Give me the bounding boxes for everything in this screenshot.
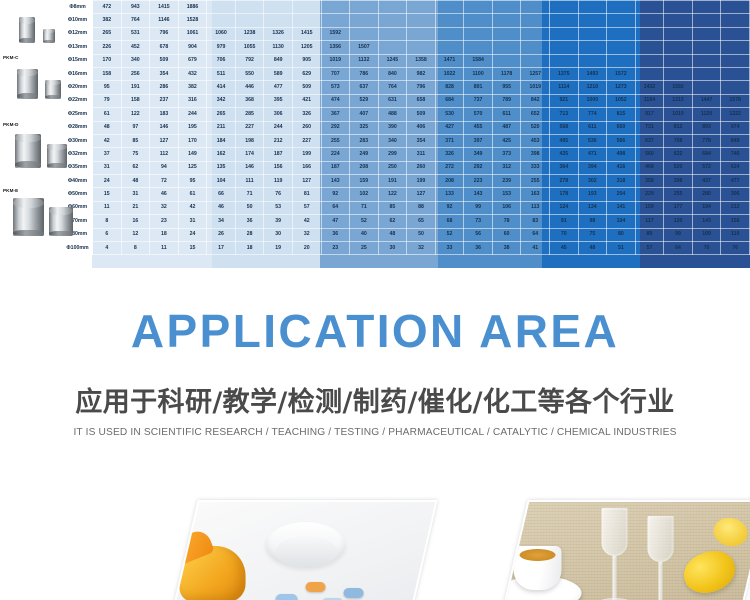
empty-cell (635, 1, 664, 14)
pressure-value-cell: 893 (692, 121, 721, 134)
empty-cell (492, 27, 521, 40)
pressure-value-cell: 340 (378, 134, 407, 147)
pill (276, 594, 298, 600)
pressure-value-cell: 11 (150, 242, 179, 255)
pressure-value-cell: 76 (264, 188, 293, 201)
pressure-value-cell: 134 (578, 201, 607, 214)
empty-cell (435, 27, 464, 40)
product-model-code: PKM-E (3, 189, 18, 194)
empty-cell (721, 67, 750, 80)
pressure-value-cell: 1578 (721, 94, 750, 107)
empty-cell (607, 41, 636, 54)
pressure-value-cell: 211 (207, 121, 236, 134)
pressure-value-cell: 239 (492, 175, 521, 188)
pressure-value-cell: 20 (292, 242, 321, 255)
table-row: Φ35mm31629412513514615616618720825026027… (1, 161, 750, 174)
pressure-value-cell: 397 (464, 134, 493, 147)
diameter-label: Φ12mm (63, 27, 93, 40)
pressure-value-cell: 979 (207, 41, 236, 54)
pressure-value-cell: 1052 (607, 94, 636, 107)
pressure-value-cell: 708 (664, 134, 693, 147)
empty-cell (378, 27, 407, 40)
pressure-value-cell: 796 (150, 27, 179, 40)
pressure-value-cell: 472 (93, 1, 122, 14)
empty-cell (692, 81, 721, 94)
pressure-value-cell: 97 (121, 121, 150, 134)
pressure-value-cell: 488 (378, 108, 407, 121)
pressure-value-cell: 713 (550, 108, 579, 121)
pressure-value-cell: 943 (121, 1, 150, 14)
pressure-value-cell: 789 (492, 94, 521, 107)
die-mold-photo (5, 194, 60, 252)
pressure-value-cell: 50 (235, 201, 264, 214)
pressure-value-cell: 421 (292, 94, 321, 107)
pressure-value-cell: 187 (321, 161, 350, 174)
table-row: PKM-DΦ28mm489714619521122724426029232539… (1, 121, 750, 134)
pressure-value-cell: 237 (150, 94, 179, 107)
pharmaceutical-tile[interactable] (166, 500, 437, 600)
pressure-value-cell: 1375 (550, 67, 579, 80)
pressure-value-cell: 796 (407, 81, 436, 94)
pressure-value-cell: 255 (521, 175, 550, 188)
table-row: Φ32mm37751121491621741871992242492993113… (1, 148, 750, 161)
pressure-value-cell: 1257 (521, 67, 550, 80)
pressure-value-cell: 195 (178, 121, 207, 134)
pressure-value-cell: 684 (435, 94, 464, 107)
empty-cell (664, 67, 693, 80)
pressure-value-cell: 326 (435, 148, 464, 161)
pressure-value-cell: 11 (93, 201, 122, 214)
pressure-value-cell: 974 (721, 121, 750, 134)
pressure-value-cell: 650 (607, 121, 636, 134)
pressure-value-cell: 117 (635, 215, 664, 228)
pressure-value-cell: 280 (692, 188, 721, 201)
pressure-value-cell: 354 (407, 134, 436, 147)
pressure-value-cell: 536 (578, 134, 607, 147)
pressure-value-cell: 98 (578, 215, 607, 228)
pressure-value-cell: 38 (492, 242, 521, 255)
empty-cell (635, 67, 664, 80)
pressure-value-cell: 64 (521, 228, 550, 241)
pressure-value-cell: 255 (321, 134, 350, 147)
pressure-value-cell: 550 (235, 67, 264, 80)
pressure-value-cell: 570 (464, 108, 493, 121)
pressure-value-cell: 184 (207, 134, 236, 147)
pressure-value-cell: 156 (721, 215, 750, 228)
empty-cell (321, 1, 350, 14)
pressure-value-cell: 679 (178, 54, 207, 67)
product-photo-cell: PKM-D (1, 121, 63, 188)
pressure-value-cell: 455 (464, 121, 493, 134)
pressure-value-cell: 495 (550, 134, 579, 147)
pressure-value-cell: 51 (607, 242, 636, 255)
pressure-value-cell: 292 (321, 121, 350, 134)
pressure-value-cell: 199 (407, 175, 436, 188)
pressure-value-cell: 229 (635, 188, 664, 201)
empty-cell (407, 14, 436, 27)
empty-cell (407, 1, 436, 14)
pressure-value-cell: 1886 (178, 1, 207, 14)
pressure-value-cell: 452 (121, 41, 150, 54)
pressure-value-cell: 453 (521, 134, 550, 147)
pressure-value-cell: 42 (178, 201, 207, 214)
pressure-value-cell: 1592 (664, 81, 693, 94)
pressure-value-cell: 368 (235, 94, 264, 107)
pressure-value-cell: 65 (407, 215, 436, 228)
pressure-value-cell: 37 (93, 148, 122, 161)
pressure-value-cell: 707 (321, 67, 350, 80)
pressure-value-cell: 1022 (435, 67, 464, 80)
empty-cell (521, 41, 550, 54)
die-mold-photo (5, 61, 60, 119)
pressure-value-cell: 174 (235, 148, 264, 161)
pressure-value-cell: 1019 (664, 108, 693, 121)
pressure-value-cell: 921 (550, 94, 579, 107)
pressure-value-cell: 52 (350, 215, 379, 228)
pressure-value-cell: 85 (121, 134, 150, 147)
pressure-value-cell: 39 (264, 215, 293, 228)
pressure-value-cell: 955 (492, 81, 521, 94)
pressure-value-cell: 1238 (235, 27, 264, 40)
empty-cell (721, 54, 750, 67)
die-mold-photo (5, 7, 60, 52)
table-row: PKM-EΦ50mm153146616671768192102122127133… (1, 188, 750, 201)
pressure-value-cell: 16 (121, 215, 150, 228)
pressure-value-cell: 1326 (264, 27, 293, 40)
pressure-value-cell: 112 (150, 148, 179, 161)
pressure-value-cell: 414 (207, 81, 236, 94)
application-gallery (0, 500, 750, 600)
empty-cell (664, 14, 693, 27)
table-row: Φ13mm22645267890497910551130120513561507 (1, 41, 750, 54)
empty-cell (664, 54, 693, 67)
pressure-value-cell: 33 (435, 242, 464, 255)
pressure-value-cell: 163 (521, 188, 550, 201)
tea-liquid (520, 549, 556, 561)
pressure-value-cell: 624 (721, 161, 750, 174)
food-beverage-tile[interactable] (496, 500, 750, 600)
empty-cell (721, 27, 750, 40)
empty-cell (635, 27, 664, 40)
pressure-value-cell: 1061 (178, 27, 207, 40)
pressure-value-cell: 333 (521, 161, 550, 174)
product-photo-cell (1, 1, 63, 55)
empty-cell (578, 41, 607, 54)
pressure-value-cell: 146 (150, 121, 179, 134)
empty-cell (264, 1, 293, 14)
pressure-value-cell: 8 (93, 215, 122, 228)
pressure-value-cell: 70 (550, 228, 579, 241)
pressure-value-cell: 31 (121, 188, 150, 201)
pressure-value-cell: 95 (93, 81, 122, 94)
pressure-value-cell: 520 (664, 161, 693, 174)
pressure-value-cell: 446 (235, 81, 264, 94)
pressure-value-cell: 127 (407, 188, 436, 201)
pressure-value-cell: 982 (407, 67, 436, 80)
pressure-value-cell: 265 (93, 27, 122, 40)
pressure-value-cell: 153 (492, 188, 521, 201)
table-row: Φ70mm81623313436394247526265687378839198… (1, 215, 750, 228)
empty-cell (378, 14, 407, 27)
pressure-value-cell: 183 (150, 108, 179, 121)
empty-cell (550, 41, 579, 54)
pressure-value-cell: 94 (150, 161, 179, 174)
pressure-value-cell: 23 (150, 215, 179, 228)
subtitle-english: IT IS USED IN SCIENTIFIC RESEARCH / TEAC… (0, 427, 750, 438)
product-photo-cell: PKM-C (1, 54, 63, 121)
pressure-value-cell: 1493 (578, 67, 607, 80)
empty-cell (235, 14, 264, 27)
empty-cell (350, 27, 379, 40)
table-row: Φ12mm265531796106110601238132614151592 (1, 27, 750, 40)
pressure-value-cell: 68 (435, 215, 464, 228)
diameter-label: Φ50mm (63, 188, 93, 201)
pressure-value-cell: 1100 (464, 67, 493, 80)
empty-cell (578, 1, 607, 14)
pressure-value-cell: 95 (178, 175, 207, 188)
pressure-value-cell: 191 (121, 81, 150, 94)
pressure-value-cell: 25 (350, 242, 379, 255)
pressure-value-cell: 326 (292, 108, 321, 121)
pressure-value-cell: 24 (178, 228, 207, 241)
pressure-value-cell: 187 (264, 148, 293, 161)
empty-cell (721, 41, 750, 54)
pressure-value-cell: 50 (407, 228, 436, 241)
pressure-value-cell: 1356 (321, 41, 350, 54)
pressure-value-cell: 78 (492, 215, 521, 228)
empty-cell (492, 1, 521, 14)
pressure-value-cell: 159 (635, 201, 664, 214)
pressure-value-cell: 75 (578, 228, 607, 241)
pressure-value-cell: 1471 (435, 54, 464, 67)
pressure-value-cell: 223 (464, 175, 493, 188)
pressure-value-cell: 88 (407, 201, 436, 214)
pressure-value-cell: 204 (607, 188, 636, 201)
pharmaceutical-photo (166, 502, 437, 600)
pressure-value-cell: 191 (378, 175, 407, 188)
pressure-value-cell: 81 (292, 188, 321, 201)
pressure-value-cell: 79 (93, 94, 122, 107)
pressure-value-cell: 64 (664, 242, 693, 255)
pressure-value-cell: 1447 (692, 94, 721, 107)
pressure-value-cell: 159 (350, 175, 379, 188)
pressure-value-cell: 658 (407, 94, 436, 107)
pressure-value-cell: 731 (635, 121, 664, 134)
empty-cell (521, 27, 550, 40)
pressure-value-cell: 437 (692, 175, 721, 188)
pressure-value-cell: 36 (464, 242, 493, 255)
empty-cell (550, 14, 579, 27)
table-row: Φ8mm47294314151886 (1, 1, 750, 14)
pressure-value-cell: 406 (407, 121, 436, 134)
pressure-value-cell: 255 (664, 188, 693, 201)
page-title: APPLICATION AREA (0, 304, 750, 358)
diameter-label: Φ80mm (63, 228, 93, 241)
pill (306, 582, 326, 592)
pressure-value-cell: 119 (721, 228, 750, 241)
pressure-value-cell: 477 (264, 81, 293, 94)
pressure-value-cell: 53 (264, 201, 293, 214)
pressure-value-cell: 371 (435, 134, 464, 147)
pressure-value-cell: 278 (550, 175, 579, 188)
pressure-value-cell: 92 (321, 188, 350, 201)
empty-cell (664, 27, 693, 40)
pressure-value-cell: 1210 (578, 81, 607, 94)
application-area-section: APPLICATION AREA 应用于科研/教学/检测/制药/催化/化工等各个… (0, 304, 750, 600)
diameter-label: Φ8mm (63, 1, 93, 14)
pressure-value-cell: 764 (121, 14, 150, 27)
pressure-value-cell: 227 (292, 134, 321, 147)
empty-cell (207, 14, 236, 27)
pressure-value-cell: 589 (264, 67, 293, 80)
pressure-value-cell: 158 (121, 94, 150, 107)
pressure-value-cell: 272 (435, 161, 464, 174)
empty-cell (407, 27, 436, 40)
pressure-value-cell: 774 (578, 108, 607, 121)
pressure-value-cell: 611 (578, 121, 607, 134)
wine-glass-stem (613, 556, 617, 600)
pressure-value-cell: 80 (607, 228, 636, 241)
diameter-label: Φ28mm (63, 121, 93, 134)
pressure-value-cell: 85 (378, 201, 407, 214)
pressure-value-cell: 285 (235, 108, 264, 121)
pressure-value-cell: 45 (550, 242, 579, 255)
wine-glass-bowl (602, 508, 628, 556)
pressure-value-cell: 212 (264, 134, 293, 147)
pressure-value-cell: 398 (664, 175, 693, 188)
diameter-label: Φ70mm (63, 215, 93, 228)
empty-cell (378, 1, 407, 14)
pressure-value-cell: 299 (378, 148, 407, 161)
empty-cell (664, 1, 693, 14)
pressure-value-cell: 306 (721, 188, 750, 201)
empty-cell (550, 54, 579, 67)
pressure-value-cell: 127 (292, 175, 321, 188)
pressure-value-cell: 746 (721, 148, 750, 161)
pressure-value-cell: 311 (407, 148, 436, 161)
empty-cell (521, 14, 550, 27)
pressure-value-cell: 849 (264, 54, 293, 67)
pressure-value-cell: 631 (378, 94, 407, 107)
pressure-value-cell: 124 (550, 201, 579, 214)
pressure-value-cell: 73 (464, 215, 493, 228)
pressure-value-cell: 32 (292, 228, 321, 241)
empty-cell (607, 54, 636, 67)
pressure-value-cell: 764 (378, 81, 407, 94)
pressure-value-cell: 31 (93, 161, 122, 174)
pressure-value-cell: 42 (93, 134, 122, 147)
empty-cell (692, 67, 721, 80)
pressure-value-cell: 786 (350, 67, 379, 80)
pressure-value-cell: 46 (207, 201, 236, 214)
pressure-value-cell: 36 (235, 215, 264, 228)
pressure-value-cell: 177 (664, 201, 693, 214)
pressure-value-cell: 849 (721, 134, 750, 147)
pressure-value-cell: 622 (664, 148, 693, 161)
pressure-value-cell: 75 (121, 148, 150, 161)
diameter-label: Φ60mm (63, 201, 93, 214)
pressure-value-cell: 637 (635, 134, 664, 147)
specification-table-section: Φ8mm47294314151886Φ10mm38276411461528Φ12… (0, 0, 750, 268)
pressure-value-cell: 382 (178, 81, 207, 94)
pressure-value-cell: 133 (435, 188, 464, 201)
empty-cell (635, 54, 664, 67)
wine-glass-stem (659, 562, 663, 600)
pressure-value-cell: 102 (350, 188, 379, 201)
pressure-value-cell: 568 (550, 121, 579, 134)
pressure-value-cell: 41 (521, 242, 550, 255)
empty-cell (607, 27, 636, 40)
empty-cell (264, 14, 293, 27)
pressure-value-cell: 367 (321, 108, 350, 121)
pressure-value-cell: 390 (378, 121, 407, 134)
pressure-value-cell: 146 (235, 161, 264, 174)
pressure-value-cell: 48 (578, 242, 607, 255)
pressure-value-cell: 306 (264, 108, 293, 121)
empty-cell (607, 14, 636, 27)
pressure-value-cell: 1146 (150, 14, 179, 27)
pressure-value-cell: 477 (721, 175, 750, 188)
pressure-value-cell: 312 (492, 161, 521, 174)
pressure-value-cell: 1055 (235, 41, 264, 54)
pressure-value-cell: 12 (121, 228, 150, 241)
table-row: Φ30mm42851271701841982122272552833403543… (1, 134, 750, 147)
empty-cell (492, 54, 521, 67)
empty-cell (550, 27, 579, 40)
pressure-value-cell: 89 (635, 228, 664, 241)
pressure-value-cell: 256 (121, 67, 150, 80)
pressure-value-cell: 1060 (207, 27, 236, 40)
pressure-value-cell: 166 (292, 161, 321, 174)
diameter-label: Φ100mm (63, 242, 93, 255)
diameter-label: Φ40mm (63, 175, 93, 188)
pressure-value-cell: 394 (578, 161, 607, 174)
empty-cell (378, 41, 407, 54)
diameter-label: Φ20mm (63, 81, 93, 94)
empty-cell (435, 14, 464, 27)
pressure-value-cell: 1178 (492, 67, 521, 80)
pressure-value-cell: 509 (407, 108, 436, 121)
empty-cell (292, 1, 321, 14)
pressure-value-cell: 199 (292, 148, 321, 161)
pressure-value-cell: 1130 (264, 41, 293, 54)
pressure-value-cell: 4 (93, 242, 122, 255)
pressure-value-cell: 158 (93, 67, 122, 80)
empty-cell (435, 41, 464, 54)
pressure-value-cell: 130 (664, 215, 693, 228)
pressure-value-cell: 812 (664, 121, 693, 134)
pressure-value-cell: 1120 (692, 108, 721, 121)
pressure-value-cell: 48 (378, 228, 407, 241)
pressure-value-cell: 119 (264, 175, 293, 188)
pressure-value-cell: 156 (264, 161, 293, 174)
pressure-value-cell: 283 (350, 134, 379, 147)
pressure-value-cell: 32 (150, 201, 179, 214)
table-row: Φ60mm11213242465053576471858892991061131… (1, 201, 750, 214)
empty-cell (721, 81, 750, 94)
pressure-value-cell: 23 (321, 242, 350, 255)
empty-cell (464, 14, 493, 27)
table-row: Φ100mm4811151718192023253032333638414548… (1, 242, 750, 255)
empty-cell (464, 1, 493, 14)
pressure-value-cell: 28 (235, 228, 264, 241)
pressure-value-cell: 15 (178, 242, 207, 255)
diameter-label: Φ25mm (63, 108, 93, 121)
pressure-value-cell: 224 (321, 148, 350, 161)
pressure-value-cell: 1507 (350, 41, 379, 54)
pressure-value-cell: 61 (93, 108, 122, 121)
pressure-spec-table: Φ8mm47294314151886Φ10mm38276411461528Φ12… (0, 0, 750, 255)
